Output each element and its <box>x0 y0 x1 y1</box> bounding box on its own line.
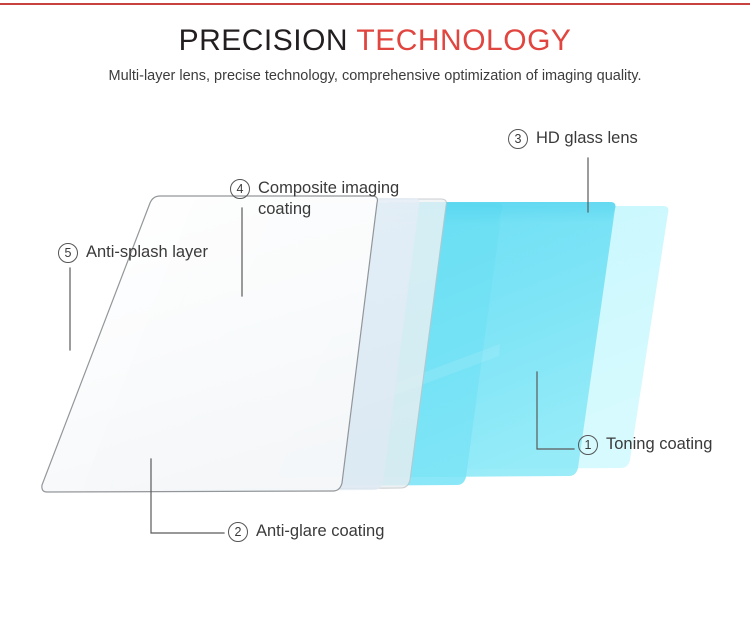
callout-1-toning-coating[interactable]: 1 Toning coating <box>578 434 712 455</box>
callout-5-anti-splash-layer[interactable]: 5 Anti-splash layer <box>58 242 208 263</box>
callout-label-1: Toning coating <box>606 434 712 455</box>
callout-label-2: Anti-glare coating <box>256 521 384 542</box>
layer-5-anti-splash-layer <box>42 196 378 492</box>
callout-label-5: Anti-splash layer <box>86 242 208 263</box>
callout-3-hd-glass-lens[interactable]: 3 HD glass lens <box>508 128 638 149</box>
callout-number-5: 5 <box>58 243 78 263</box>
callout-4-composite-imaging-coating[interactable]: 4 Composite imaging coating <box>230 178 399 220</box>
callout-number-1: 1 <box>578 435 598 455</box>
callout-label-4: Composite imaging coating <box>258 178 399 220</box>
callout-label-3: HD glass lens <box>536 128 638 149</box>
callout-number-3: 3 <box>508 129 528 149</box>
callout-number-2: 2 <box>228 522 248 542</box>
callout-number-4: 4 <box>230 179 250 199</box>
diagram-page: PRECISION TECHNOLOGY Multi-layer lens, p… <box>0 0 750 631</box>
callout-2-anti-glare-coating[interactable]: 2 Anti-glare coating <box>228 521 384 542</box>
